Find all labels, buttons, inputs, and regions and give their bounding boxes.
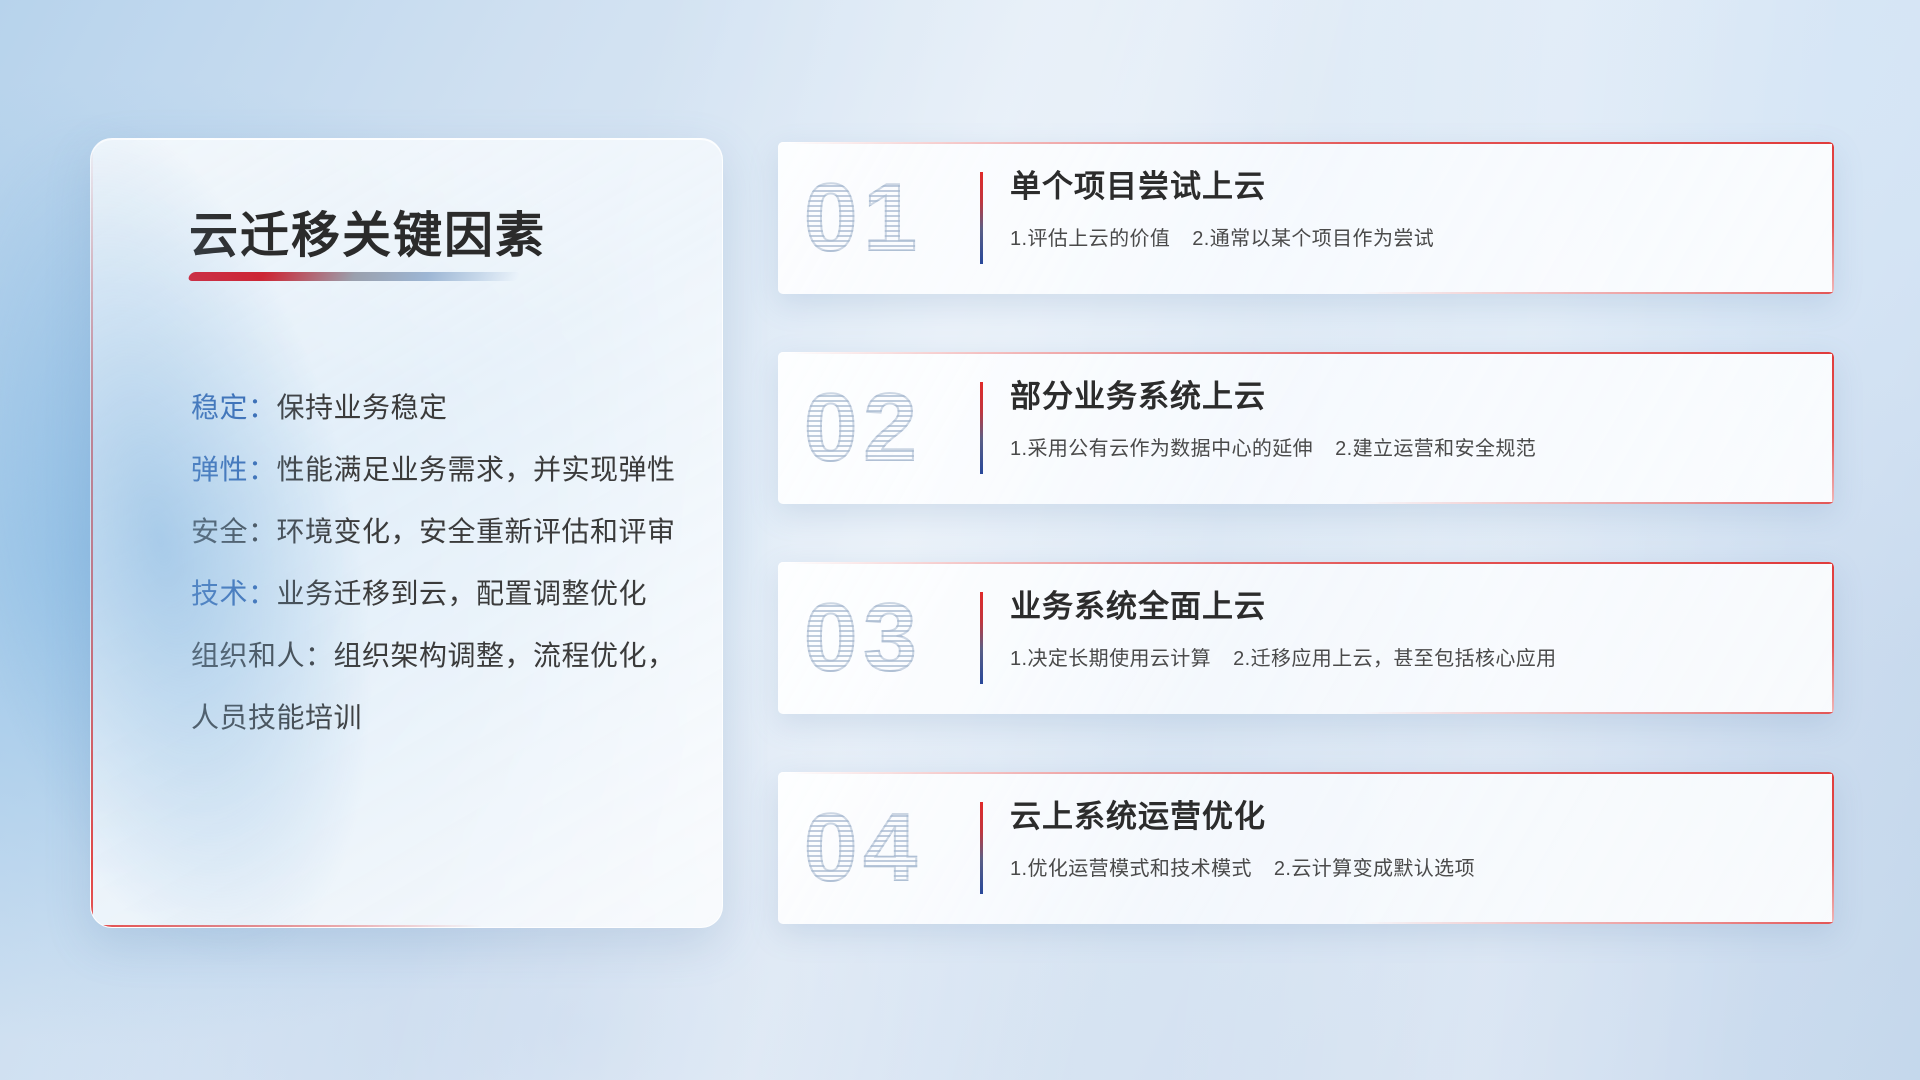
stage-number: 01 [804, 170, 923, 266]
list-item: 安全：环境变化，安全重新评估和评审 [191, 501, 691, 563]
stage-description: 1.决定长期使用云计算2.迁移应用上云，甚至包括核心应用 [1010, 642, 1800, 671]
stage-number: 02 [804, 380, 923, 476]
list-item-label: 弹性： [191, 454, 277, 485]
card-right-accent-line [1832, 562, 1834, 714]
stage-description-part-2: 2.建立运营和安全规范 [1335, 438, 1536, 460]
list-item: 稳定：保持业务稳定 [191, 377, 691, 439]
list-item: 技术：业务迁移到云，配置调整优化 [191, 563, 691, 625]
card-left-accent-line [91, 139, 93, 927]
stage-card-04[interactable]: 04 云上系统运营优化 1.优化运营模式和技术模式2.云计算变成默认选项 [778, 772, 1834, 924]
list-item-label: 稳定： [191, 392, 277, 423]
key-factors-list: 稳定：保持业务稳定 弹性：性能满足业务需求，并实现弹性 安全：环境变化，安全重新… [191, 377, 691, 749]
stage-heading: 业务系统全面上云 [1010, 588, 1800, 625]
list-item: 弹性：性能满足业务需求，并实现弹性 [191, 439, 691, 501]
list-item-body: 业务迁移到云，配置调整优化 [277, 578, 648, 609]
card-bottom-accent-line [1359, 502, 1834, 504]
stage-divider-bar [980, 802, 983, 894]
stage-card-03[interactable]: 03 业务系统全面上云 1.决定长期使用云计算2.迁移应用上云，甚至包括核心应用 [778, 562, 1834, 714]
stage-description-part-2: 2.云计算变成默认选项 [1274, 858, 1475, 880]
stage-description-part-1: 1.优化运营模式和技术模式 [1010, 858, 1252, 880]
stage-description-part-1: 1.评估上云的价值 [1010, 228, 1170, 250]
stage-content: 云上系统运营优化 1.优化运营模式和技术模式2.云计算变成默认选项 [1010, 798, 1800, 881]
stage-description-part-1: 1.决定长期使用云计算 [1010, 648, 1211, 670]
card-top-accent-line [790, 562, 1834, 564]
stage-description-part-2: 2.通常以某个项目作为尝试 [1192, 228, 1434, 250]
list-item-label: 组织和人： [191, 640, 334, 671]
stage-number: 04 [804, 800, 923, 896]
stage-description: 1.优化运营模式和技术模式2.云计算变成默认选项 [1010, 852, 1800, 881]
stage-heading: 部分业务系统上云 [1010, 378, 1800, 415]
list-item: 组织和人：组织架构调整，流程优化， [191, 625, 691, 687]
list-item-label: 技术： [191, 578, 277, 609]
card-right-accent-line [1832, 352, 1834, 504]
stage-heading: 单个项目尝试上云 [1010, 168, 1800, 205]
card-top-accent-line [790, 142, 1834, 144]
list-item-label: 安全： [191, 516, 277, 547]
card-top-accent-line [790, 352, 1834, 354]
stage-card-01[interactable]: 01 单个项目尝试上云 1.评估上云的价值2.通常以某个项目作为尝试 [778, 142, 1834, 294]
list-item-body: 环境变化，安全重新评估和评审 [277, 516, 676, 547]
card-top-accent-line [790, 772, 1834, 774]
stage-content: 部分业务系统上云 1.采用公有云作为数据中心的延伸2.建立运营和安全规范 [1010, 378, 1800, 461]
title-underline-rule [187, 272, 521, 281]
stage-description: 1.采用公有云作为数据中心的延伸2.建立运营和安全规范 [1010, 432, 1800, 461]
list-item-body: 组织架构调整，流程优化， [334, 640, 676, 671]
card-bottom-accent-line [1359, 712, 1834, 714]
stage-heading: 云上系统运营优化 [1010, 798, 1800, 835]
stage-divider-bar [980, 382, 983, 474]
list-item-body: 性能满足业务需求，并实现弹性 [277, 454, 676, 485]
card-bottom-accent-line [91, 925, 482, 927]
list-item-body: 保持业务稳定 [277, 392, 448, 423]
page-title: 云迁移关键因素 [189, 196, 546, 267]
list-item-continuation: 人员技能培训 [191, 687, 691, 749]
stage-description-part-2: 2.迁移应用上云，甚至包括核心应用 [1233, 648, 1556, 670]
stage-content: 单个项目尝试上云 1.评估上云的价值2.通常以某个项目作为尝试 [1010, 168, 1800, 251]
slide-canvas: 云迁移关键因素 稳定：保持业务稳定 弹性：性能满足业务需求，并实现弹性 安全：环… [0, 0, 1920, 1080]
stage-number: 03 [804, 590, 923, 686]
key-factors-card: 云迁移关键因素 稳定：保持业务稳定 弹性：性能满足业务需求，并实现弹性 安全：环… [90, 138, 723, 928]
card-bottom-accent-line [1359, 922, 1834, 924]
stage-content: 业务系统全面上云 1.决定长期使用云计算2.迁移应用上云，甚至包括核心应用 [1010, 588, 1800, 671]
stage-card-02[interactable]: 02 部分业务系统上云 1.采用公有云作为数据中心的延伸2.建立运营和安全规范 [778, 352, 1834, 504]
card-right-accent-line [1832, 142, 1834, 294]
stage-description-part-1: 1.采用公有云作为数据中心的延伸 [1010, 438, 1313, 460]
stage-description: 1.评估上云的价值2.通常以某个项目作为尝试 [1010, 222, 1800, 251]
card-right-accent-line [1832, 772, 1834, 924]
stage-divider-bar [980, 172, 983, 264]
card-bottom-accent-line [1359, 292, 1834, 294]
stage-divider-bar [980, 592, 983, 684]
